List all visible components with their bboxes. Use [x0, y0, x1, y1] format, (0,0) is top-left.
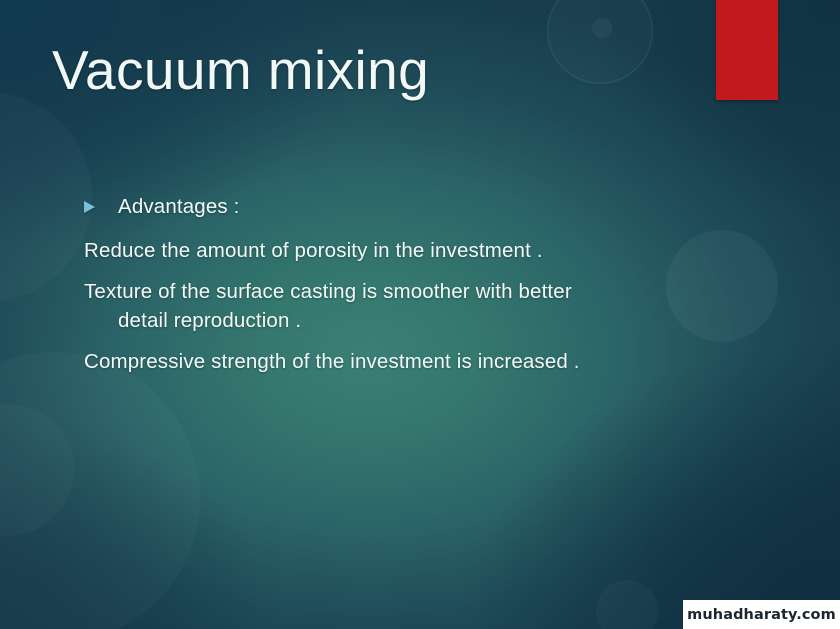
- body-line-3: Compressive strength of the investment i…: [84, 347, 724, 376]
- triangle-bullet-icon: [84, 201, 95, 213]
- body-line-1: Reduce the amount of porosity in the inv…: [84, 236, 724, 265]
- body-line-2-part-1: Texture of the surface casting is smooth…: [84, 280, 572, 303]
- watermark-text: muhadharaty.com: [687, 607, 836, 623]
- body-line-2: Texture of the surface casting is smooth…: [84, 277, 724, 335]
- red-accent-bar: [716, 0, 778, 100]
- body-content: Advantages : Reduce the amount of porosi…: [84, 192, 724, 389]
- bullet-item-advantages: Advantages :: [84, 192, 724, 221]
- watermark-badge: muhadharaty.com: [683, 600, 840, 629]
- body-line-2-part-2: detail reproduction .: [84, 306, 724, 335]
- page-title: Vacuum mixing: [52, 38, 429, 102]
- slide-canvas: Vacuum mixing Advantages : Reduce the am…: [0, 0, 840, 629]
- bullet-item-label: Advantages :: [118, 192, 239, 221]
